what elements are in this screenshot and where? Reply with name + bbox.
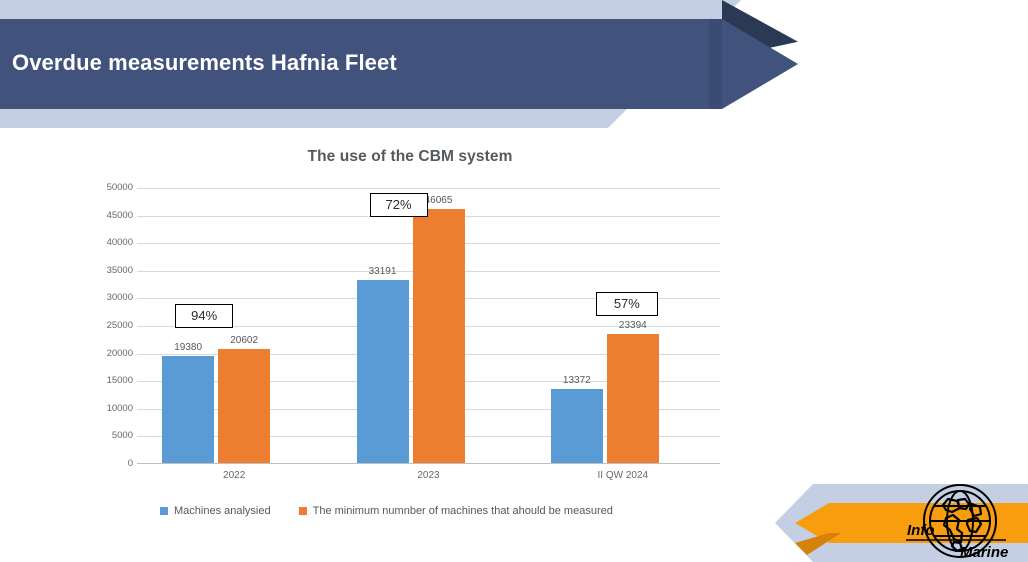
chart-bar xyxy=(413,209,465,463)
chart-bar-value-label: 13372 xyxy=(543,375,611,386)
chart-x-tick-label: II QW 2024 xyxy=(526,470,720,481)
chart-y-tick-label: 25000 xyxy=(87,320,133,331)
chart-percentage-badge: 94% xyxy=(175,304,233,328)
chart-legend-item[interactable]: The minimum numnber of machines that aho… xyxy=(299,505,613,517)
chart-bar-value-label: 23394 xyxy=(599,320,667,331)
chart-x-tick-label: 2022 xyxy=(137,470,331,481)
chart-bar xyxy=(162,356,214,463)
chart-legend-swatch xyxy=(160,507,168,515)
chart-y-tick-label: 50000 xyxy=(87,182,133,193)
chart-legend-label: The minimum numnber of machines that aho… xyxy=(313,505,613,517)
chart-y-tick-label: 0 xyxy=(87,458,133,469)
chart-y-tick-label: 30000 xyxy=(87,292,133,303)
header-arrow-shadow xyxy=(709,19,722,109)
chart-plot-area: 193802060294%331914606572%133722339457% xyxy=(137,188,720,464)
chart-percentage-badge: 72% xyxy=(370,193,428,217)
chart-legend-swatch xyxy=(299,507,307,515)
chart-legend: Machines analysiedThe minimum numnber of… xyxy=(160,503,641,519)
chart-y-tick-label: 20000 xyxy=(87,348,133,359)
chart-y-tick-label: 40000 xyxy=(87,237,133,248)
chart-y-tick-label: 5000 xyxy=(87,430,133,441)
chart-bar xyxy=(218,349,270,463)
chart-bar xyxy=(607,334,659,463)
chart-y-tick-label: 35000 xyxy=(87,265,133,276)
logo-text-marine: Marine xyxy=(960,544,1008,561)
chart-legend-item[interactable]: Machines analysied xyxy=(160,505,271,517)
chart-legend-label: Machines analysied xyxy=(174,505,271,517)
chart-title: The use of the CBM system xyxy=(85,148,735,166)
chart-bar xyxy=(357,280,409,463)
chart-y-axis: 5000045000400003500030000250002000015000… xyxy=(85,188,133,464)
header-banner: Overdue measurements Hafnia Fleet xyxy=(0,0,800,128)
chart-bar-value-label: 33191 xyxy=(349,266,417,277)
chart-percentage-badge: 57% xyxy=(596,292,658,316)
header-light-band-bottom xyxy=(0,109,608,128)
header-arrow-tip xyxy=(722,19,798,109)
chart-y-tick-label: 10000 xyxy=(87,403,133,414)
chart-bar xyxy=(551,389,603,463)
info-marine-logo: Info Marine xyxy=(888,480,1028,562)
page-title: Overdue measurements Hafnia Fleet xyxy=(12,50,397,76)
chart-y-tick-label: 45000 xyxy=(87,210,133,221)
logo-text-info: Info xyxy=(907,522,935,539)
chart-baseline xyxy=(137,463,720,464)
chart-x-tick-label: 2023 xyxy=(331,470,525,481)
chart-y-tick-label: 15000 xyxy=(87,375,133,386)
chart-container: The use of the CBM system 50000450004000… xyxy=(85,148,735,528)
header-light-band-top xyxy=(0,0,722,19)
chart-gridline xyxy=(137,188,720,189)
chart-bar-value-label: 20602 xyxy=(210,335,278,346)
footer-banner: Info Marine xyxy=(775,484,1028,562)
